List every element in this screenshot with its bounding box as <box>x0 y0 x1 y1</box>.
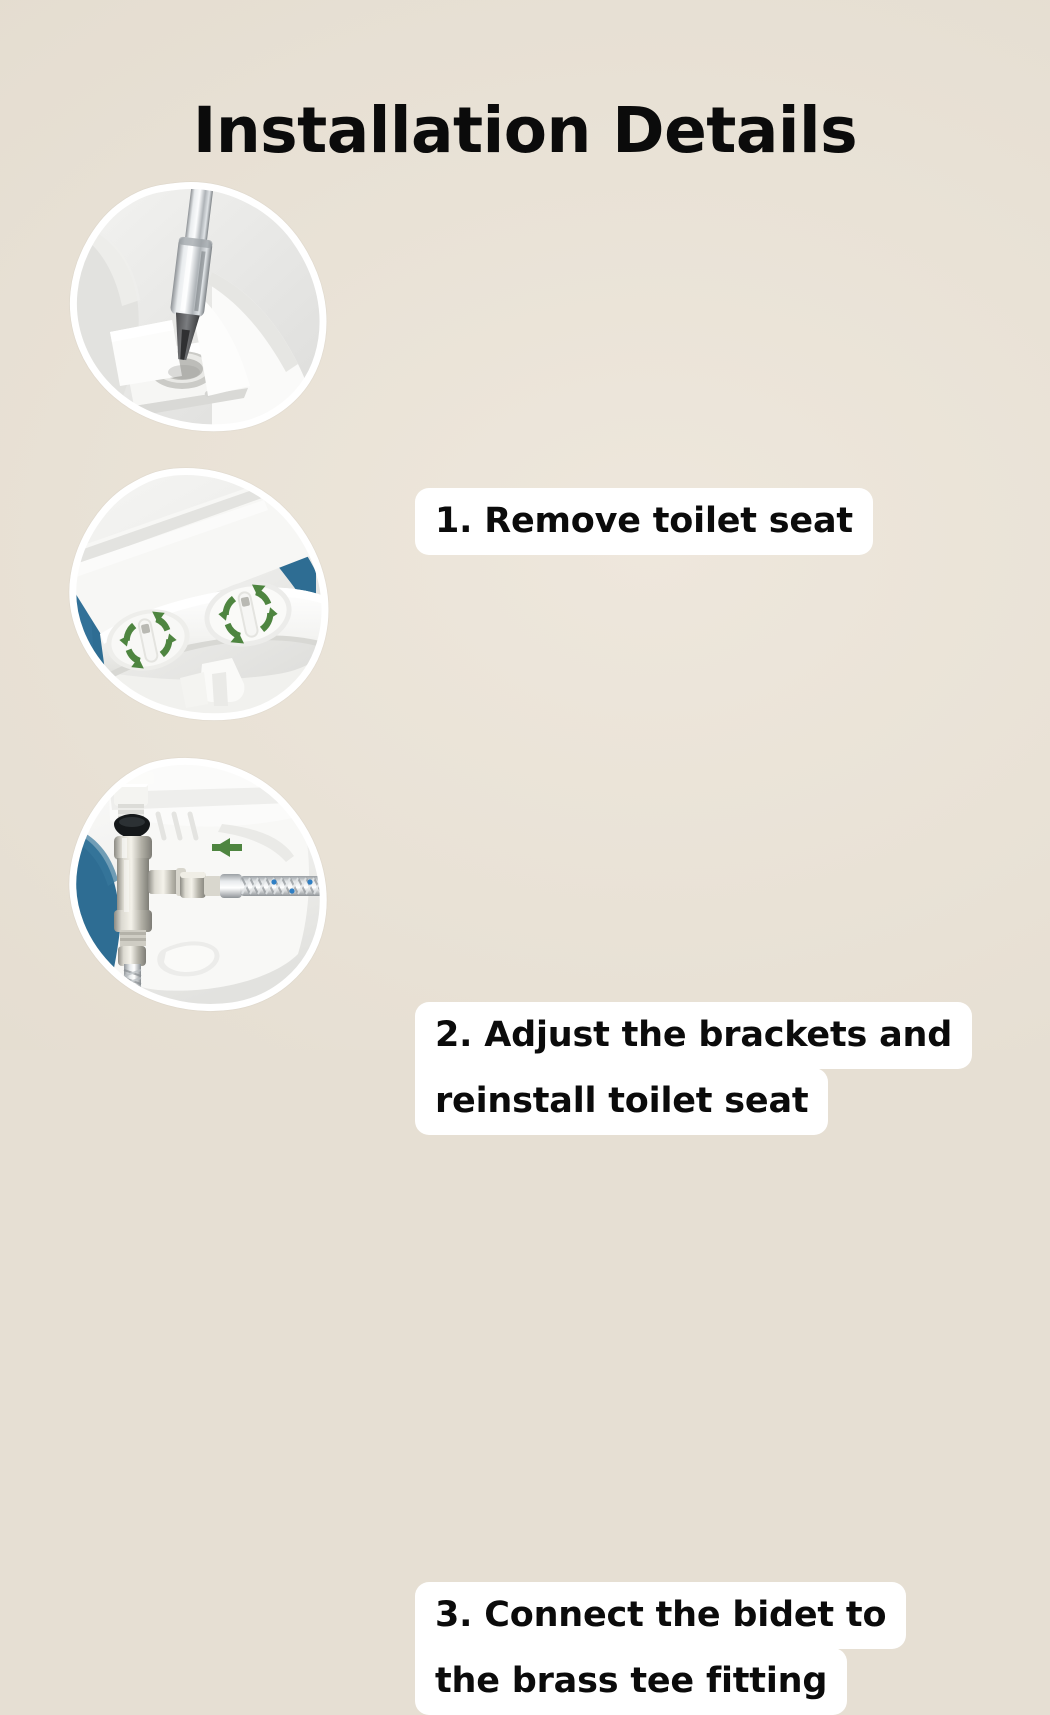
step-1: 1. Remove toilet seat <box>0 180 1050 440</box>
step-3-labels: 3. Connect the bidet to the brass tee fi… <box>415 1582 906 1715</box>
step-3: 3. Connect the bidet to the brass tee fi… <box>0 758 1050 1020</box>
step-3-label-line-1: 3. Connect the bidet to <box>415 1582 906 1649</box>
step-2-image <box>62 468 334 720</box>
step-3-label-line-2: the brass tee fitting <box>415 1648 847 1715</box>
step-2: 2. Adjust the brackets and reinstall toi… <box>0 468 1050 730</box>
step-2-label-line-2: reinstall toilet seat <box>415 1068 828 1135</box>
page-title: Installation Details <box>0 92 1050 170</box>
step-1-image <box>62 180 334 432</box>
step-2-labels: 2. Adjust the brackets and reinstall toi… <box>415 1002 972 1135</box>
installation-details-infographic: Installation Details <box>0 0 1050 1050</box>
step-3-image <box>62 758 334 1010</box>
